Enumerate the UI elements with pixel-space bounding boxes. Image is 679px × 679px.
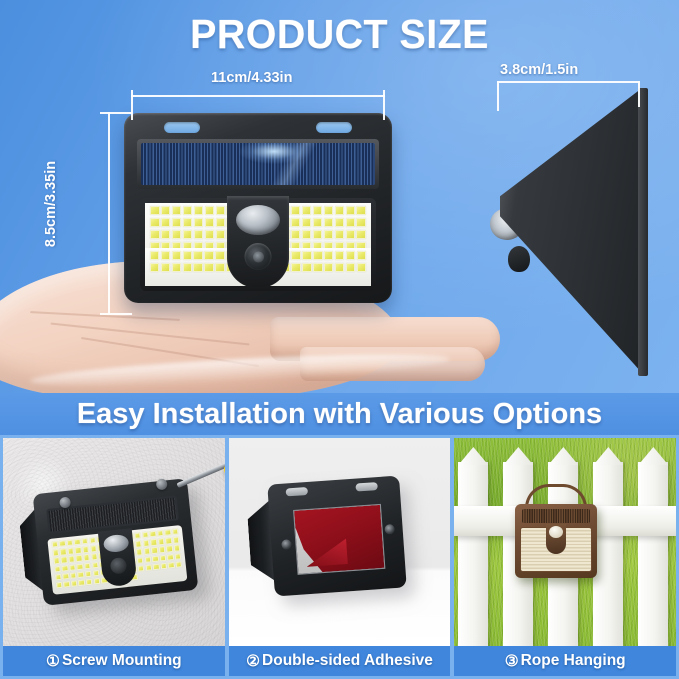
- screwdriver-shaft: [176, 462, 224, 488]
- led-chip: [313, 218, 322, 227]
- led-chip: [215, 251, 224, 260]
- screwdriver-icon: [176, 458, 225, 507]
- led-chip: [215, 263, 224, 272]
- fence-picket: [458, 462, 488, 646]
- led-chip: [204, 263, 213, 272]
- height-dimension-line: [108, 112, 110, 314]
- led-chip: [204, 251, 213, 260]
- led-chip: [356, 206, 365, 215]
- led-chip: [216, 206, 225, 215]
- led-chip: [134, 532, 141, 539]
- led-chip: [55, 574, 62, 581]
- solar-panel-frame: [137, 139, 379, 189]
- caption-screw-mounting: ① Screw Mounting: [3, 646, 225, 676]
- led-chip: [158, 538, 165, 545]
- led-chip: [78, 579, 85, 586]
- led-chip: [194, 206, 203, 215]
- screw-hole-icon: [384, 524, 395, 535]
- led-chip: [90, 545, 97, 552]
- led-chip: [193, 251, 202, 260]
- led-chip: [92, 570, 99, 577]
- depth-dimension-cap-right: [638, 81, 640, 107]
- led-chip: [356, 218, 365, 227]
- product-infographic: PRODUCT SIZE: [0, 0, 679, 679]
- led-chip: [346, 230, 355, 239]
- led-chip: [149, 531, 156, 538]
- led-chip: [165, 537, 172, 544]
- led-chip: [82, 546, 89, 553]
- sensor-housing: [227, 196, 289, 288]
- led-chip: [70, 572, 77, 579]
- led-chip: [143, 548, 150, 555]
- caption-number: ③: [505, 652, 519, 671]
- led-chip: [291, 206, 300, 215]
- led-chip: [346, 206, 355, 215]
- lamp-hanging-on-fence: [515, 500, 597, 578]
- led-chip: [175, 561, 182, 568]
- led-chip: [150, 218, 159, 227]
- led-chip: [52, 549, 59, 556]
- led-chip: [76, 555, 83, 562]
- led-chip: [150, 263, 159, 272]
- pir-motion-sensor-icon: [549, 526, 563, 538]
- height-dimension-cap-top: [100, 112, 132, 114]
- led-chip: [150, 206, 159, 215]
- led-chip: [335, 218, 344, 227]
- caption-label: Screw Mounting: [62, 652, 182, 670]
- led-chip: [291, 263, 300, 272]
- screw-mounting-photo: [3, 438, 225, 646]
- led-chip: [66, 539, 73, 546]
- height-dimension-cap-bottom: [100, 313, 132, 315]
- led-chip: [161, 251, 170, 260]
- led-chip: [346, 218, 355, 227]
- led-chip: [76, 563, 83, 570]
- led-chip: [74, 539, 81, 546]
- hanging-slot-left: [285, 487, 308, 497]
- led-chip: [302, 206, 311, 215]
- led-chip: [172, 528, 179, 535]
- led-chip: [173, 537, 180, 544]
- fence-picket: [593, 462, 623, 646]
- led-chip: [60, 548, 67, 555]
- led-chip: [75, 547, 82, 554]
- depth-dimension-label: 3.8cm/1.5in: [500, 62, 578, 78]
- led-chip: [172, 230, 181, 239]
- width-dimension-cap-right: [383, 90, 385, 120]
- led-chip: [291, 230, 300, 239]
- led-chip: [335, 230, 344, 239]
- installation-banner: Easy Installation with Various Options: [0, 393, 679, 435]
- led-chip: [324, 263, 333, 272]
- led-chip: [324, 206, 333, 215]
- led-chip: [172, 263, 181, 272]
- led-chip: [183, 263, 192, 272]
- led-chip: [193, 263, 202, 272]
- light-sensor-icon: [245, 243, 272, 270]
- pir-motion-sensor-icon: [102, 534, 129, 554]
- led-chip: [313, 230, 322, 239]
- led-chip: [53, 557, 60, 564]
- led-chip: [324, 230, 333, 239]
- led-chip: [194, 230, 203, 239]
- product-size-section: PRODUCT SIZE: [0, 0, 679, 397]
- solar-light-front-view: [124, 113, 392, 303]
- led-chip: [150, 539, 157, 546]
- led-chip: [164, 529, 171, 536]
- led-chip: [174, 545, 181, 552]
- led-chip: [313, 251, 322, 260]
- led-chip: [159, 554, 166, 561]
- width-dimension-line: [131, 95, 385, 97]
- led-chip: [183, 251, 192, 260]
- led-chip: [205, 230, 214, 239]
- hanging-slot-right: [316, 122, 352, 133]
- led-chip: [85, 570, 92, 577]
- led-chip: [59, 540, 66, 547]
- led-chip: [356, 230, 365, 239]
- led-chip: [161, 263, 170, 272]
- led-chip: [152, 555, 159, 562]
- led-chip: [159, 546, 166, 553]
- led-chip: [313, 206, 322, 215]
- led-chip: [67, 548, 74, 555]
- depth-dimension-line: [497, 81, 640, 83]
- led-chip: [135, 540, 142, 547]
- led-chip: [137, 557, 144, 564]
- installation-option-rope-hanging: ③ Rope Hanging: [454, 438, 676, 676]
- led-chip: [183, 206, 192, 215]
- lamp-rear-view: [267, 476, 406, 597]
- caption-number: ②: [246, 652, 260, 671]
- led-chip: [357, 263, 366, 272]
- solar-panel: [522, 509, 590, 523]
- led-chip: [205, 218, 214, 227]
- installation-option-screw-mounting: ① Screw Mounting: [3, 438, 225, 676]
- sensor-housing: [546, 524, 566, 554]
- side-light-sensor-icon: [508, 246, 530, 272]
- led-chip: [346, 251, 355, 260]
- led-chip: [291, 251, 300, 260]
- led-chip: [91, 553, 98, 560]
- led-chip: [89, 537, 96, 544]
- led-chip: [174, 553, 181, 560]
- led-chip: [83, 554, 90, 561]
- led-chip: [302, 263, 311, 272]
- led-chip: [216, 230, 225, 239]
- led-chip: [136, 549, 143, 556]
- solar-panel-glare: [239, 143, 309, 164]
- led-chip: [92, 562, 99, 569]
- led-chip: [168, 562, 175, 569]
- led-chip: [153, 563, 160, 570]
- installation-options: ① Screw Mounting: [0, 435, 679, 679]
- led-chip: [346, 263, 355, 272]
- solar-light-side-view: [490, 88, 650, 373]
- led-chip: [172, 251, 181, 260]
- led-chip: [77, 571, 84, 578]
- led-chip: [145, 564, 152, 571]
- side-back-plate: [638, 88, 648, 376]
- led-panel-area: [140, 198, 376, 291]
- led-chip: [62, 573, 69, 580]
- led-chip: [205, 206, 214, 215]
- screw-hole-icon: [281, 539, 292, 550]
- banner-title: Easy Installation with Various Options: [77, 398, 602, 431]
- led-chip: [183, 230, 192, 239]
- led-chip: [61, 557, 68, 564]
- installation-option-double-sided-adhesive: ② Double-sided Adhesive: [229, 438, 451, 676]
- led-chip: [63, 581, 70, 588]
- led-chip: [54, 565, 61, 572]
- led-chip: [183, 218, 192, 227]
- led-chip: [142, 532, 149, 539]
- led-chip: [86, 579, 93, 586]
- rope-hanging-photo: [454, 438, 676, 646]
- led-chip: [150, 251, 159, 260]
- height-dimension-label: 8.5cm/3.35in: [43, 144, 59, 264]
- led-chip: [84, 562, 91, 569]
- led-chip: [157, 530, 164, 537]
- page-title: PRODUCT SIZE: [14, 11, 666, 58]
- pir-motion-sensor-icon: [236, 205, 280, 235]
- led-chip: [335, 251, 344, 260]
- caption-label: Rope Hanging: [521, 652, 626, 670]
- led-chip: [324, 218, 333, 227]
- led-chip: [335, 263, 344, 272]
- led-chip: [216, 218, 225, 227]
- screwdriver-handle: [222, 452, 225, 494]
- led-chip: [172, 206, 181, 215]
- led-chip: [166, 545, 173, 552]
- led-chip: [69, 564, 76, 571]
- led-chip: [302, 230, 311, 239]
- caption-label: Double-sided Adhesive: [262, 652, 433, 670]
- caption-number: ①: [46, 652, 60, 671]
- led-chip: [151, 547, 158, 554]
- led-chip: [143, 540, 150, 547]
- side-profile-highlight: [500, 88, 648, 373]
- led-chip: [144, 556, 151, 563]
- adhesive-photo: [229, 438, 451, 646]
- solar-panel: [141, 143, 375, 185]
- led-chip: [161, 218, 170, 227]
- fence-picket: [638, 462, 668, 646]
- led-chip: [81, 538, 88, 545]
- led-chip: [324, 251, 333, 260]
- led-chip: [160, 563, 167, 570]
- led-chip: [93, 578, 100, 585]
- led-chip: [167, 554, 174, 561]
- led-chip: [161, 230, 170, 239]
- led-chip: [150, 230, 159, 239]
- led-chip: [61, 565, 68, 572]
- led-chip: [51, 541, 58, 548]
- led-chip: [172, 218, 181, 227]
- led-chip: [291, 218, 300, 227]
- caption-double-sided-adhesive: ② Double-sided Adhesive: [229, 646, 451, 676]
- led-chip: [71, 580, 78, 587]
- hanging-slot-right: [355, 482, 378, 492]
- caption-rope-hanging: ③ Rope Hanging: [454, 646, 676, 676]
- led-chip: [161, 206, 170, 215]
- width-dimension-label: 11cm/4.33in: [211, 70, 292, 86]
- led-chip: [357, 251, 366, 260]
- adhesive-recess: [293, 504, 385, 575]
- led-chip: [302, 218, 311, 227]
- lamp-on-wall: [33, 478, 199, 606]
- led-chip: [56, 582, 63, 589]
- width-dimension-cap-left: [131, 90, 133, 120]
- led-chip: [194, 218, 203, 227]
- led-chip: [68, 556, 75, 563]
- hanging-slot-left: [164, 122, 200, 133]
- led-chip: [335, 206, 344, 215]
- light-sensor-icon: [109, 557, 127, 575]
- led-chip: [302, 251, 311, 260]
- depth-dimension-cap-left: [497, 81, 499, 111]
- led-chip: [313, 263, 322, 272]
- led-chip: [138, 565, 145, 572]
